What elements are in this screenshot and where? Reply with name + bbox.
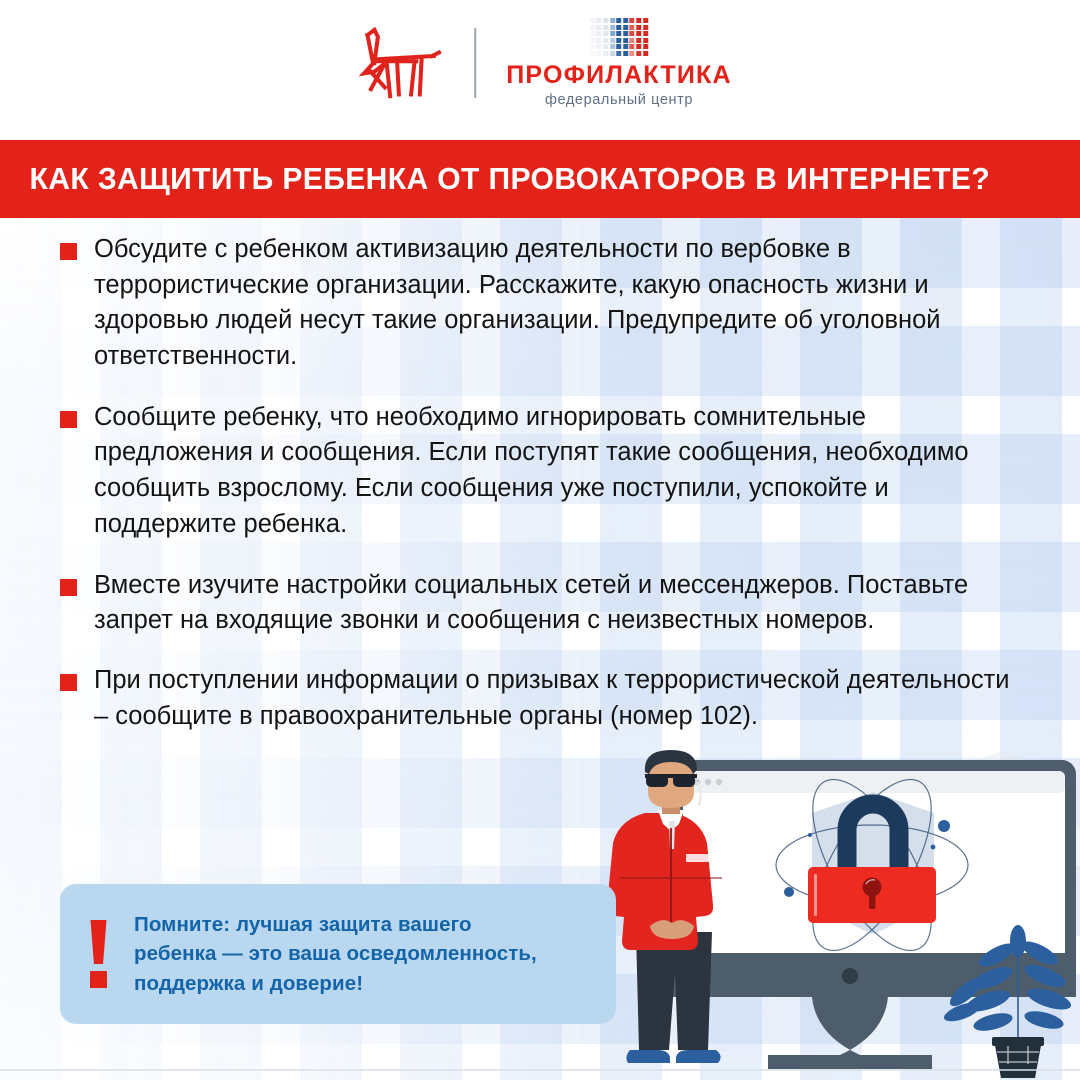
red-square-bullet-icon	[60, 579, 77, 596]
list-item-text: При поступлении информации о призывах к …	[94, 663, 1019, 734]
shoe	[626, 1050, 670, 1063]
list-item: Вместе изучите настройки социальных сете…	[0, 568, 1035, 639]
pixel-grid-flag-icon	[590, 18, 648, 56]
header-divider	[474, 28, 476, 98]
orbit-dot	[784, 887, 794, 897]
orbit-dot	[931, 845, 936, 850]
exclamation-mark-icon	[89, 920, 108, 988]
list-item: Сообщите ребенку, что необходимо игнорир…	[0, 400, 1035, 543]
advice-list: Обсудите с ребенком активизацию деятельн…	[0, 232, 1035, 759]
orbit-dot	[808, 833, 812, 837]
header: ПРОФИЛАКТИКА федеральный центр	[0, 0, 1080, 140]
list-item: Обсудите с ребенком активизацию деятельн…	[0, 232, 1035, 375]
title-banner: КАК ЗАЩИТИТЬ РЕБЕНКА ОТ ПРОВОКАТОРОВ В И…	[0, 140, 1080, 218]
orbit-dot	[938, 820, 950, 832]
callout-line-2: ребенка — это ваша осведомленность,	[134, 939, 537, 968]
remember-callout: Помните: лучшая защита вашего ребенка — …	[60, 884, 616, 1024]
page-title: КАК ЗАЩИТИТЬ РЕБЕНКА ОТ ПРОВОКАТОРОВ В И…	[0, 162, 990, 197]
callout-line-3: поддержка и доверие!	[134, 969, 537, 998]
list-item: При поступлении информации о призывах к …	[0, 663, 1035, 734]
red-square-bullet-icon	[60, 411, 77, 428]
brand-block: ПРОФИЛАКТИКА федеральный центр	[506, 18, 732, 107]
brand-subtitle: федеральный центр	[545, 93, 693, 108]
list-item-text: Сообщите ребенку, что необходимо игнорир…	[94, 400, 1019, 543]
callout-text: Помните: лучшая защита вашего ребенка — …	[134, 910, 537, 997]
red-square-bullet-icon	[60, 674, 77, 691]
poster-root: ПРОФИЛАКТИКА федеральный центр КАК ЗАЩИТ…	[0, 0, 1080, 1080]
list-item-text: Вместе изучите настройки социальных сете…	[94, 568, 1019, 639]
red-square-bullet-icon	[60, 243, 77, 260]
red-horse-line-art-icon	[348, 21, 444, 105]
jacket-badge	[686, 854, 718, 862]
shoe	[676, 1050, 721, 1063]
brand-name: ПРОФИЛАКТИКА	[506, 63, 732, 88]
list-item-text: Обсудите с ребенком активизацию деятельн…	[94, 232, 1019, 375]
callout-line-1: Помните: лучшая защита вашего	[134, 910, 537, 939]
